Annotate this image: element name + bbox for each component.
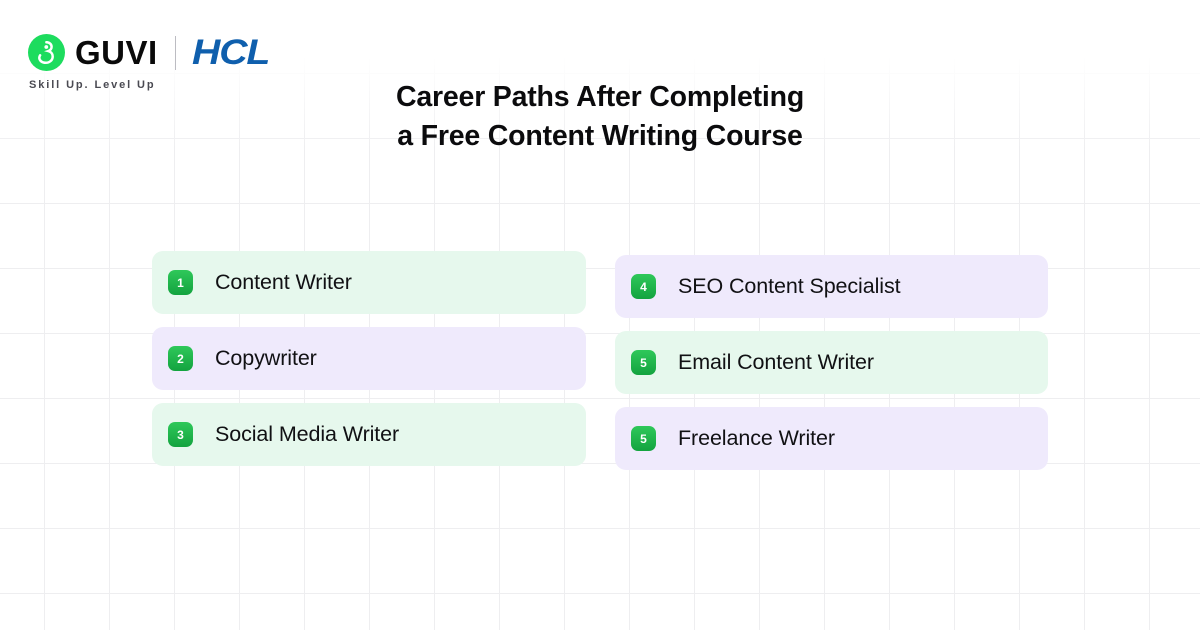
career-path-label: Copywriter xyxy=(215,346,317,371)
career-path-label: Email Content Writer xyxy=(678,350,874,375)
hcl-wordmark: HCL xyxy=(192,35,269,70)
career-path-card[interactable]: 5 Email Content Writer xyxy=(615,331,1048,394)
career-path-column-left: 1 Content Writer 2 Copywriter 3 Social M… xyxy=(152,251,586,466)
career-path-column-right: 4 SEO Content Specialist 5 Email Content… xyxy=(615,255,1048,470)
career-path-card[interactable]: 3 Social Media Writer xyxy=(152,403,586,466)
page-title-line-1: Career Paths After Completing xyxy=(0,78,1200,117)
career-path-label: SEO Content Specialist xyxy=(678,274,900,299)
page-title: Career Paths After Completing a Free Con… xyxy=(0,78,1200,156)
card-number-badge: 5 xyxy=(631,426,656,451)
career-path-card[interactable]: 5 Freelance Writer xyxy=(615,407,1048,470)
career-path-label: Social Media Writer xyxy=(215,422,399,447)
brand-lockup: GUVI HCL xyxy=(28,34,261,71)
card-number-badge: 5 xyxy=(631,350,656,375)
career-path-card[interactable]: 2 Copywriter xyxy=(152,327,586,390)
guvi-logo: GUVI xyxy=(28,34,158,71)
guvi-g-mark-icon xyxy=(28,34,65,71)
career-path-card[interactable]: 4 SEO Content Specialist xyxy=(615,255,1048,318)
career-path-label: Freelance Writer xyxy=(678,426,835,451)
career-path-card[interactable]: 1 Content Writer xyxy=(152,251,586,314)
vertical-divider-icon xyxy=(175,36,176,70)
card-number-badge: 3 xyxy=(168,422,193,447)
card-number-badge: 4 xyxy=(631,274,656,299)
career-path-label: Content Writer xyxy=(215,270,352,295)
page-title-line-2: a Free Content Writing Course xyxy=(0,117,1200,156)
card-number-badge: 2 xyxy=(168,346,193,371)
poster-canvas: GUVI HCL Skill Up. Level Up Career Paths… xyxy=(0,0,1200,630)
guvi-wordmark: GUVI xyxy=(75,36,158,69)
card-number-badge: 1 xyxy=(168,270,193,295)
